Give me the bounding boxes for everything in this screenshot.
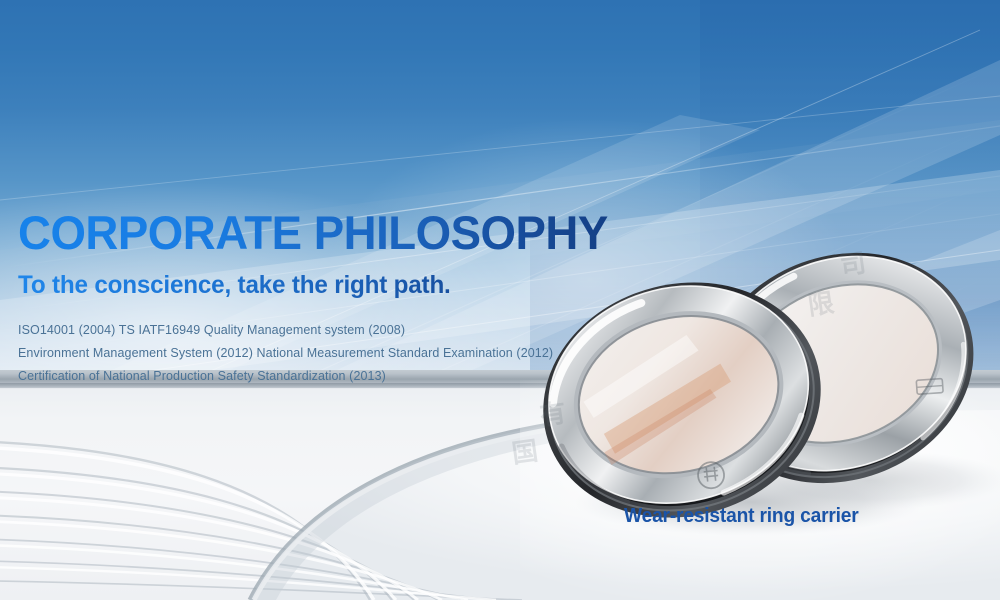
product-caption: Wear-resistant ring carrier	[624, 505, 859, 528]
corporate-philosophy-banner: CORPORATE PHILOSOPHY To the conscience, …	[0, 0, 1000, 600]
product-image-rings: 司 限 有 国	[540, 240, 1000, 540]
